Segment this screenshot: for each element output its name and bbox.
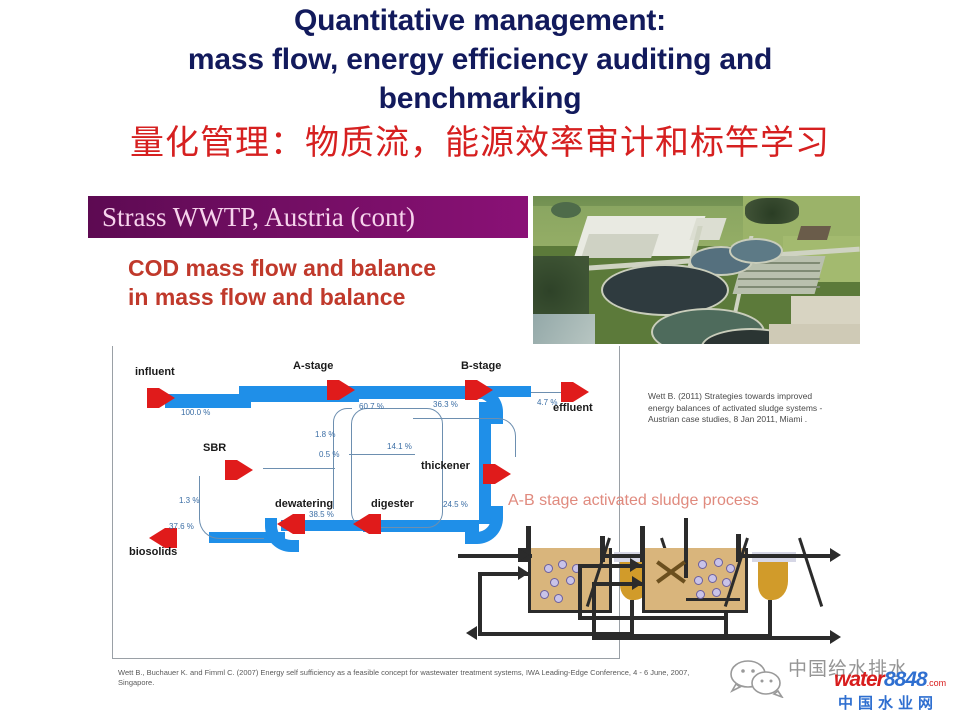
sankey-value-return: 14.1 % (387, 442, 412, 451)
a-stage-feed-arrow-icon (518, 548, 529, 562)
flow-sbr-line (263, 468, 335, 469)
biomass-dot (694, 576, 703, 585)
b-settler-overflow-line (742, 554, 836, 558)
sankey-value-thickener: 24.5 % (443, 500, 468, 509)
photo-far-shed (797, 226, 831, 240)
a-waste-arrow-icon (466, 626, 477, 640)
biomass-dot (540, 590, 549, 599)
biomass-dot (566, 576, 575, 585)
sankey-label-thickener: thickener (421, 460, 470, 472)
photo-basin-divider (738, 278, 821, 280)
b-stage-baffle (686, 598, 740, 601)
watermark-chinese-bottom: 中国水业网 (838, 692, 938, 713)
biomass-dot (698, 560, 707, 569)
arrow-sbr-body (225, 460, 237, 480)
photo-river (533, 314, 595, 344)
biomass-dot (550, 578, 559, 587)
a-return-riser (478, 572, 482, 636)
watermark-brand-number: 8848 (884, 668, 927, 691)
sankey-label-effluent: effluent (553, 402, 593, 414)
sankey-label-b-stage: B-stage (461, 360, 501, 372)
b-settler-underflow (768, 600, 772, 638)
sankey-label-sbr: SBR (203, 442, 226, 454)
a-return-arrow-icon (518, 566, 529, 580)
arrow-a-stage-body (327, 380, 339, 400)
b-waste-arrow-icon (630, 558, 641, 572)
slide-banner-title: Strass WWTP, Austria (cont) (102, 200, 415, 234)
biomass-dot (554, 594, 563, 603)
a-stage-arrow-icon (339, 380, 355, 400)
b-stage-inlet-wall (640, 526, 645, 562)
sankey-value-b-stage: 36.3 % (433, 400, 458, 409)
title-chinese: 量化管理：物质流，能源效率审计和标竿学习 (0, 121, 960, 165)
thickener-arrow-icon (495, 464, 511, 484)
slide-footnote: Wett B., Buchauer K. and Fimml C. (2007)… (118, 668, 718, 688)
biomass-dot (696, 590, 705, 599)
b-return-arrow-icon (632, 576, 643, 590)
slide-page: Quantitative management: mass flow, ener… (0, 0, 960, 720)
biomass-dot (544, 564, 553, 573)
dewatering-arrow-icon (277, 514, 293, 534)
arrow-influent-body (147, 388, 159, 408)
sankey-label-dewatering: dewatering (275, 498, 333, 510)
b-stage-arrow-icon (477, 380, 493, 400)
watermark: 中国给水排水 water8848.com 中国水业网 (726, 652, 952, 714)
sankey-label-a-stage: A-stage (293, 360, 333, 372)
influent-arrow-icon (159, 388, 175, 408)
photo-bare-ground-2 (769, 324, 860, 344)
process-caption: A-B stage activated sludge process (508, 492, 759, 510)
sankey-value-recycle-1: 1.8 % (315, 430, 335, 439)
slide-heading-line-2: in mass flow and balance (128, 283, 548, 312)
sankey-value-digester: 38.5 % (309, 510, 334, 519)
b-sludge-out-line (592, 636, 834, 640)
wechat-icon (728, 658, 784, 698)
sankey-citation: Wett B. (2011) Strategies towards improv… (648, 391, 838, 426)
b-settler-sludge-blanket (758, 562, 788, 600)
sankey-label-digester: digester (371, 498, 414, 510)
biomass-dot (712, 588, 721, 597)
biomass-dot (714, 558, 723, 567)
biomass-dot (726, 564, 735, 573)
photo-secondary-building (581, 234, 659, 258)
effluent-arrow-icon (573, 382, 589, 402)
digester-arrow-icon (353, 514, 369, 534)
arrow-thickener-body (483, 464, 495, 484)
photo-basin-divider (738, 270, 821, 272)
biomass-dot (708, 574, 717, 583)
b-waste-riser (578, 564, 582, 620)
b-effluent-arrow-icon (830, 548, 841, 562)
sankey-value-biosolids: 37.6 % (169, 522, 194, 531)
aerial-photo (533, 196, 860, 344)
sankey-frame-bottom (112, 658, 620, 659)
title-line-1: Quantitative management: (0, 0, 960, 39)
process-schematic (458, 526, 858, 652)
arrow-biosolids-body (165, 528, 177, 548)
sankey-value-effluent: 4.7 % (537, 398, 557, 407)
watermark-brand-water: water (834, 668, 884, 691)
sankey-label-biosolids: biosolids (129, 546, 177, 558)
page-title: Quantitative management: mass flow, ener… (0, 0, 960, 165)
b-waste-line (578, 616, 728, 620)
b-stage-mixer-shaft (684, 518, 688, 578)
flow-sbr-to-biosolids (199, 476, 264, 539)
biosolids-arrow-icon (149, 528, 165, 548)
biomass-dot (558, 560, 567, 569)
b-return-riser (592, 582, 596, 638)
arrow-effluent-body (561, 382, 573, 402)
sbr-arrow-icon (237, 460, 253, 480)
sankey-value-recycle-2: 0.5 % (319, 450, 339, 459)
sankey-value-sbr: 1.3 % (179, 496, 199, 505)
sankey-value-a-stage: 60.7 % (359, 402, 384, 411)
photo-basin-divider (738, 286, 821, 288)
slide-heading: COD mass flow and balance in mass flow a… (128, 254, 548, 312)
arrow-digester-body (369, 514, 381, 534)
sankey-value-influent: 100.0 % (181, 408, 210, 417)
slide-heading-line-1: COD mass flow and balance (128, 254, 548, 283)
embedded-slide: Strass WWTP, Austria (cont) COD mass flo… (88, 196, 860, 696)
arrow-b-stage-body (465, 380, 477, 400)
b-waste-drop (724, 612, 728, 638)
title-line-2: mass flow, energy efficiency auditing an… (0, 39, 960, 78)
photo-clarifier (729, 238, 783, 264)
b-settler-right-wall (798, 538, 823, 607)
watermark-brand-tld: .com (927, 678, 947, 688)
arrow-dewatering-body (293, 514, 305, 534)
photo-treeline-top (745, 198, 799, 224)
photo-tank (551, 202, 581, 218)
sankey-label-influent: influent (135, 366, 175, 378)
watermark-logo: water8848.com (834, 668, 946, 692)
title-line-3: benchmarking (0, 78, 960, 117)
